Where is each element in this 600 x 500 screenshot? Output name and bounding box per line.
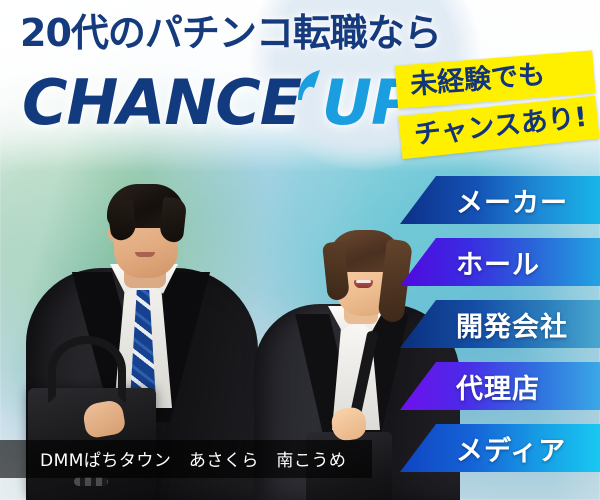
category-label: メディア — [456, 429, 566, 468]
recruitment-banner[interactable]: 20代のパチンコ転職なら CHANCE UP 未経験でも チャンスあり! メーカ… — [0, 0, 600, 500]
credits-caption: DMMぱちタウン あさくら 南こうめ — [0, 440, 372, 478]
category-item-developer[interactable]: 開発会社 — [400, 300, 600, 348]
category-label: ホール — [456, 243, 540, 282]
chance-up-logo: CHANCE UP — [22, 72, 416, 134]
category-item-media[interactable]: メディア — [400, 424, 600, 472]
category-label: 開発会社 — [456, 305, 568, 344]
category-label: メーカー — [456, 181, 568, 220]
category-item-hall[interactable]: ホール — [400, 238, 600, 286]
category-label: 代理店 — [456, 367, 540, 406]
category-item-agency[interactable]: 代理店 — [400, 362, 600, 410]
experience-badge: 未経験でも チャンスあり! — [395, 50, 599, 156]
logo-main-text: CHANCE — [22, 66, 322, 139]
category-list: メーカー ホール 開発会社 代理店 メディア — [400, 176, 600, 486]
headline-text: 20代のパチンコ転職なら — [20, 14, 441, 52]
category-item-maker[interactable]: メーカー — [400, 176, 600, 224]
